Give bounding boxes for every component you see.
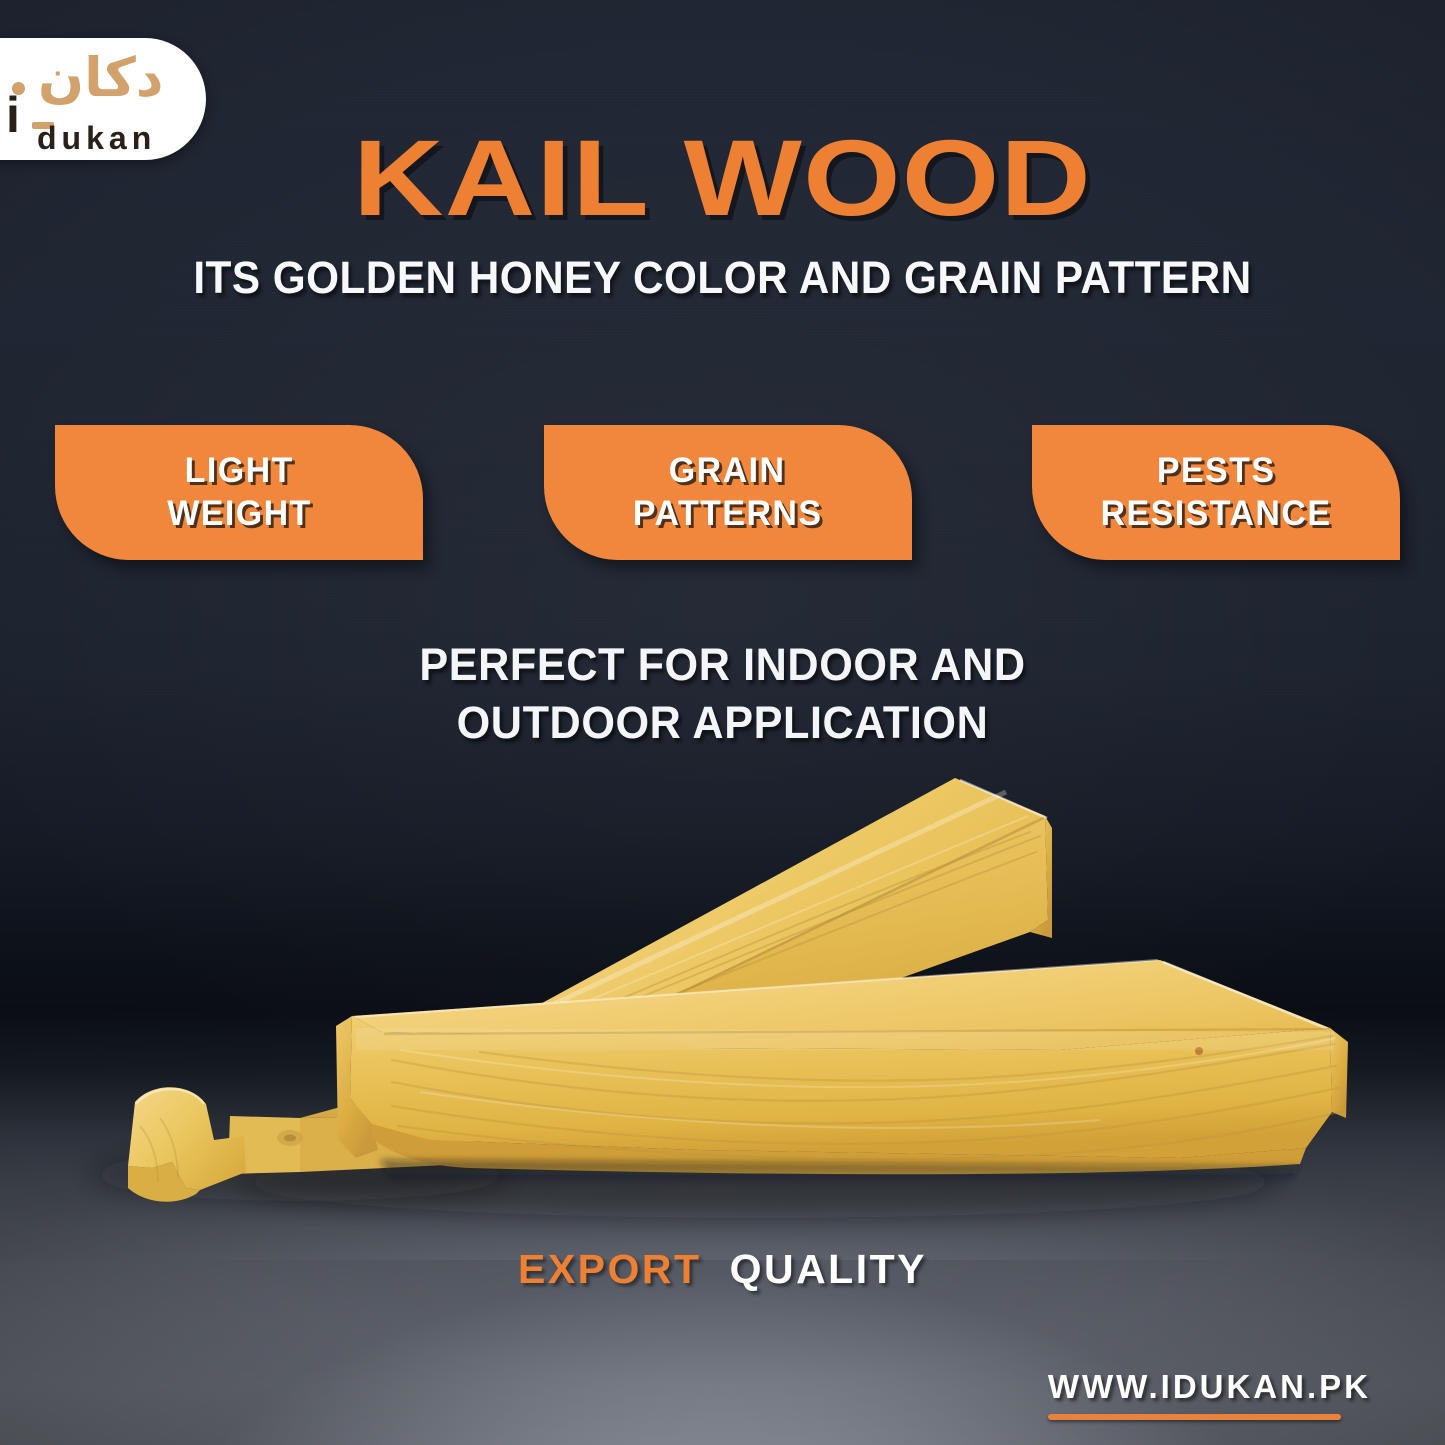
export-quality-banner: EXPORTQUALITY: [0, 1246, 1445, 1293]
brand-logo-urdu: دکان: [38, 51, 163, 105]
feature-badge-light-weight[interactable]: LIGHT WEIGHT: [55, 425, 423, 560]
feature-badge-label-line2: RESISTANCE: [1101, 493, 1332, 536]
feature-badge-pests-resistance[interactable]: PESTS RESISTANCE: [1032, 425, 1400, 560]
page-title: KAIL WOOD: [0, 124, 1445, 232]
website-underline-rule: [1048, 1414, 1341, 1420]
feature-badge-label-line1: GRAIN: [669, 450, 786, 493]
tagline: PERFECT FOR INDOOR AND OUTDOOR APPLICATI…: [29, 636, 1416, 751]
feature-badge-label-line2: WEIGHT: [167, 493, 312, 536]
website-url[interactable]: WWW.IDUKAN.PK: [1048, 1370, 1371, 1403]
quality-word: QUALITY: [730, 1246, 927, 1292]
feature-badge-grain-patterns[interactable]: GRAIN PATTERNS: [544, 425, 912, 560]
website-block[interactable]: WWW.IDUKAN.PK: [1048, 1370, 1371, 1420]
tagline-line-1: PERFECT FOR INDOOR AND: [29, 636, 1416, 694]
poster-canvas: دکان i dukan KAIL WOOD ITS GOLDEN HONEY …: [0, 0, 1445, 1445]
product-photo: [0, 720, 1445, 1260]
tagline-line-2: OUTDOOR APPLICATION: [29, 694, 1416, 752]
page-subtitle: ITS GOLDEN HONEY COLOR AND GRAIN PATTERN: [43, 252, 1401, 304]
feature-badge-label-line1: LIGHT: [184, 450, 293, 493]
feature-badge-list: LIGHT WEIGHT GRAIN PATTERNS PESTS RESIST…: [55, 425, 1400, 560]
export-word: EXPORT: [518, 1246, 702, 1292]
feature-badge-label-line2: PATTERNS: [633, 493, 823, 536]
feature-badge-label-line1: PESTS: [1157, 450, 1276, 493]
